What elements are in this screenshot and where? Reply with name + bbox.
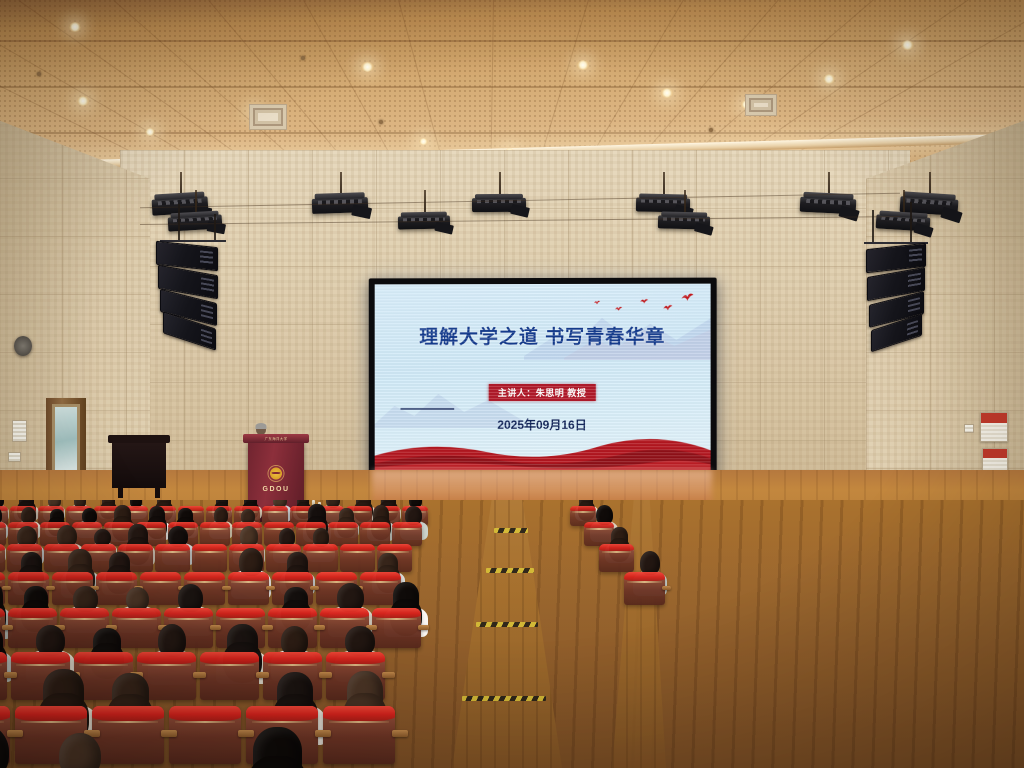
seat [624,572,665,605]
audience-member [59,733,101,768]
stage-light-fixture [800,197,857,215]
seat [360,522,390,546]
slide-surface: 理解大学之道 书写青春华章 主讲人：朱思明 教授 2025年09月16日 [375,284,711,473]
seat-armrest [310,586,319,590]
podium-university-name: 广东海洋大学 [248,436,304,441]
stage-light-fixture [398,215,450,229]
downlight [823,74,835,84]
right-wall-sign-upper [980,412,1008,442]
seat-armrest [382,672,395,678]
seat-armrest [193,672,206,678]
seat-armrest [314,625,325,630]
bird-icon [594,300,600,305]
seat [323,706,395,764]
seat [0,544,5,572]
sprinkler-head [379,120,383,124]
auditorium-photo: 理解大学之道 书写青春华章 主讲人：朱思明 教授 2025年09月16日 [0,0,1024,768]
aisle-step-marker [494,528,528,533]
seat-armrest [315,730,331,737]
sprinkler-head [301,56,305,60]
seat [228,572,269,605]
seat [599,544,634,572]
audience-seating-area [0,500,1024,768]
seat-armrest [2,586,11,590]
seat [169,706,241,764]
seat-armrest [266,586,275,590]
bird-icon [615,306,622,311]
seat-armrest [418,625,429,630]
stage-light-fixture [312,197,368,214]
upright-piano [112,440,166,488]
piano-leg [155,487,160,498]
presenter-hair [256,423,267,429]
seat-armrest [161,730,177,737]
sprinkler-head [37,72,41,76]
seat [340,544,375,572]
seat [155,544,190,572]
seat [200,522,230,546]
left-wall-emergency-sign [8,452,21,462]
seat [200,652,259,700]
seat [192,544,227,572]
seat [372,608,421,648]
seat-armrest [210,625,221,630]
seat-armrest [238,730,254,737]
bird-icon [663,304,672,311]
seat-armrest [4,672,17,678]
right-wall-small-plate [964,424,974,433]
slide-divider-rule [400,408,454,410]
seat-armrest [256,672,269,678]
bird-icon [640,298,648,304]
seat-armrest [7,730,23,737]
downlight [661,88,673,98]
ceiling-cross-seam [0,40,1024,42]
slide-red-wave-graphic [375,434,711,473]
sprinkler-head [709,128,713,132]
sign-header-band [983,449,1007,458]
seat [92,706,164,764]
seat-armrest [222,586,231,590]
ceiling-cross-seam [0,86,1024,88]
downlight [419,138,428,145]
bird-icon [680,292,694,302]
slide-presenter-badge: 主讲人：朱思明 教授 [489,384,595,401]
university-crest-icon [269,466,284,481]
slide-title: 理解大学之道 书写青春华章 [375,322,711,349]
podium-abbreviation: GDOU [248,486,304,493]
downlight [145,128,155,136]
line-array-speaker-left [156,238,226,346]
downlight [77,96,89,106]
audience-member [253,727,302,768]
seat [328,522,358,546]
downlight [577,60,589,70]
piano-leg [118,487,123,498]
aisle-step-marker [476,622,538,627]
seat-armrest [392,730,408,737]
audience-member-head [0,724,9,768]
aisle-step-marker [486,568,534,573]
audience-member [0,724,9,768]
audience-member-head [59,733,101,768]
wall-mounted-speaker-left [14,336,32,356]
seat-armrest [319,672,332,678]
speaker-suspension-left [178,204,180,240]
speaker-suspension-right [214,214,216,240]
seat-armrest [262,625,273,630]
slide-date: 2025年09月16日 [375,416,711,433]
piano-lid [108,435,170,443]
seat [303,544,338,572]
seat [392,522,422,546]
hvac-diffuser [249,104,287,130]
speaker-suspension-left [872,210,874,242]
seat-armrest [2,625,13,630]
seat-armrest [662,586,671,590]
speaker-suspension-right [910,202,912,242]
sign-body-text [981,423,1007,441]
sign-header-band [981,413,1007,423]
left-wall-notice-sign [12,420,27,442]
aisle-step-marker [462,696,546,701]
downlight [69,22,81,32]
line-array-speaker-right [862,240,932,346]
stage-light-fixture [636,197,690,212]
seat [0,522,6,546]
led-stage-screen[interactable]: 理解大学之道 书写青春华章 主讲人：朱思明 教授 2025年09月16日 [369,278,717,479]
hvac-diffuser [745,94,777,116]
